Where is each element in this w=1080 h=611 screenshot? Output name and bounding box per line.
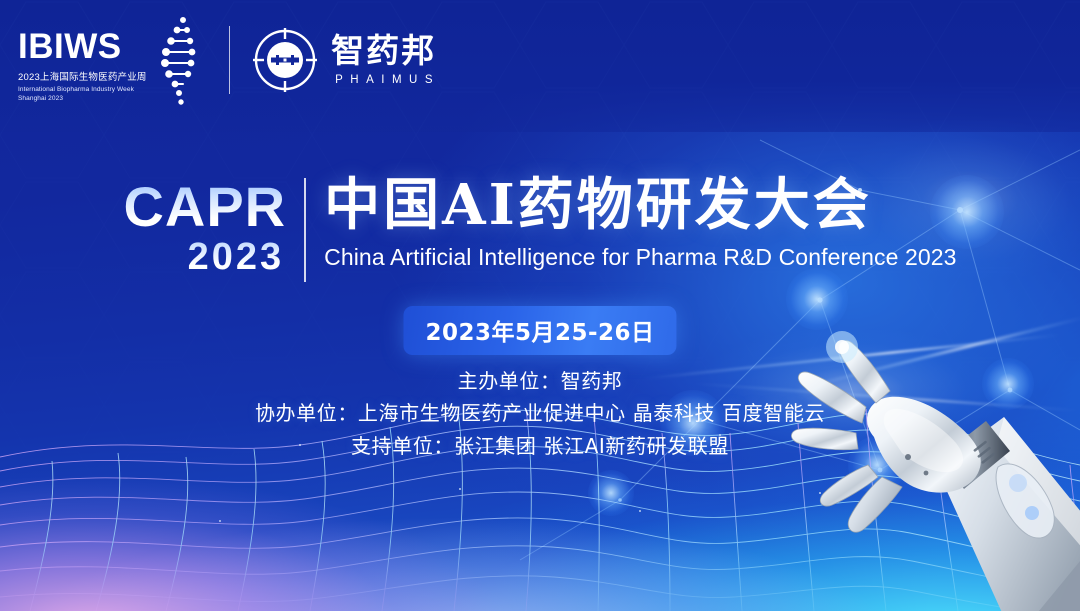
title-divider [304, 178, 306, 282]
acronym-text: CAPR [123, 180, 286, 233]
phaimus-logo: 智药邦 PHAIMUS [252, 27, 440, 93]
conference-poster: IBIWS 2023上海国际生物医药产业周 International Biop… [0, 0, 1080, 611]
phaimus-cn-name: 智药邦 [331, 34, 440, 67]
acronym-year-text: 2023 [188, 238, 287, 278]
organizer-line: 支持单位：张江集团 张江AI新药研发联盟 [0, 430, 1080, 462]
logo-bar: IBIWS 2023上海国际生物医药产业周 International Biop… [18, 16, 440, 104]
title-chinese: 中国AI药物研发大会 [324, 176, 956, 235]
dna-helix-icon [153, 15, 203, 107]
ibiws-city-year: Shanghai 2023 [18, 95, 147, 102]
ibiws-logo: IBIWS 2023上海国际生物医药产业周 International Biop… [18, 13, 203, 107]
hero-title-block: CAPR 2023 中国AI药物研发大会 China Artificial In… [0, 176, 1080, 282]
date-badge: 2023年5月25-26日 [403, 306, 676, 355]
ibiws-en-name: International Biopharma Industry Week [18, 86, 147, 93]
organizer-list: 主办单位：智药邦 协办单位：上海市生物医药产业促进中心 晶泰科技 百度智能云 支… [0, 365, 1080, 462]
organizer-line: 主办单位：智药邦 [0, 365, 1080, 397]
acronym-block: CAPR 2023 [123, 176, 286, 278]
phaimus-en-name: PHAIMUS [331, 74, 440, 86]
title-english: China Artificial Intelligence for Pharma… [324, 244, 956, 271]
logo-divider [229, 26, 231, 94]
ibiws-wordmark: IBIWS [18, 29, 147, 64]
organizer-line: 协办单位：上海市生物医药产业促进中心 晶泰科技 百度智能云 [0, 397, 1080, 429]
phaimus-circle-mark-icon [252, 27, 318, 93]
ibiws-cn-name: 2023上海国际生物医药产业周 [18, 69, 147, 83]
